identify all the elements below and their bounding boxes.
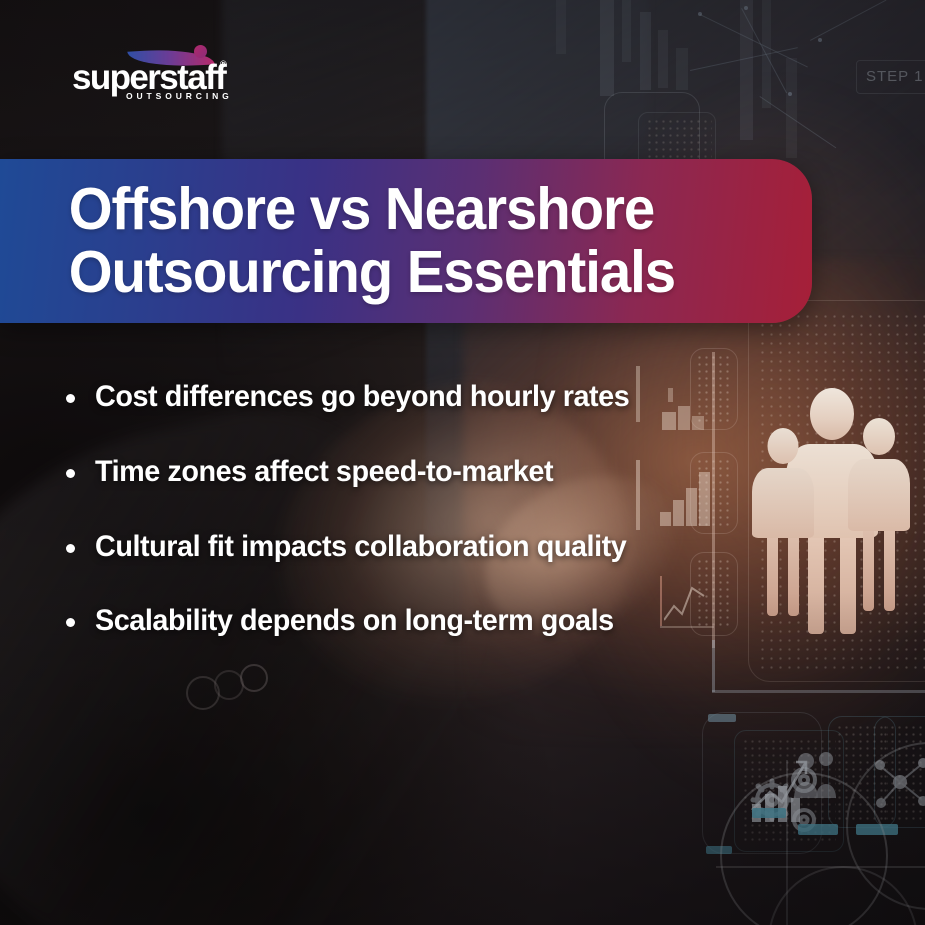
list-item: Cost differences go beyond hourly rates [66,378,756,416]
list-item-label: Cost differences go beyond hourly rates [95,378,629,416]
bullet-dot-icon [66,544,75,553]
list-item-label: Time zones affect speed-to-market [95,453,553,491]
logo-tagline: OUTSOURCING [126,91,233,101]
bullet-dot-icon [66,618,75,627]
list-item-label: Cultural fit impacts collaboration quali… [95,528,626,566]
registered-trademark-icon: ® [220,59,227,69]
page-title: Offshore vs Nearshore Outsourcing Essent… [0,178,675,304]
list-item: Time zones affect speed-to-market [66,453,756,491]
logo-wordmark: superstaff [72,60,225,95]
bullet-dot-icon [66,469,75,478]
list-item: Cultural fit impacts collaboration quali… [66,528,756,566]
headline-banner: Offshore vs Nearshore Outsourcing Essent… [0,159,812,323]
list-item-label: Scalability depends on long-term goals [95,602,614,640]
superstaff-logo[interactable]: superstaff ® OUTSOURCING [72,50,242,102]
cuff-ring [240,664,268,692]
bullet-dot-icon [66,394,75,403]
logo-dot-icon [194,45,207,58]
key-points-list: Cost differences go beyond hourly rates … [66,378,756,640]
list-item: Scalability depends on long-term goals [66,602,756,640]
